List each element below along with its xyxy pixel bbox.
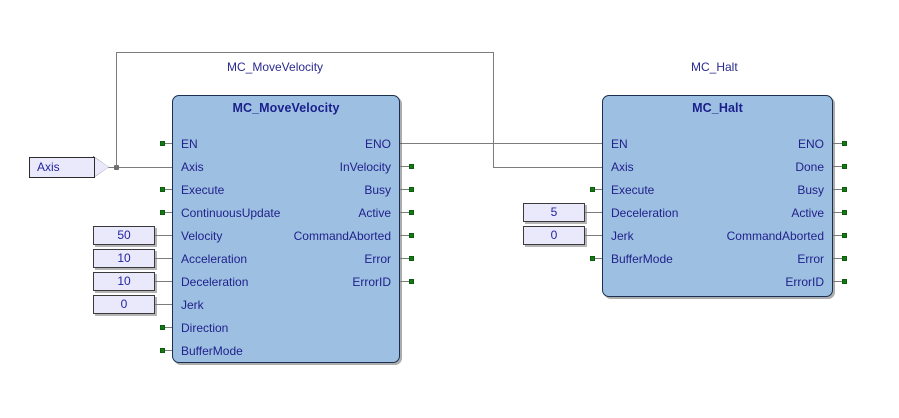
connector-dot-mv-continuousupdate[interactable] — [160, 210, 165, 215]
pin-in-execute[interactable]: Execute — [181, 184, 224, 196]
wire-eno-to-en — [400, 143, 603, 144]
wire-axis-branch-vertical — [116, 52, 117, 167]
literal-jerk[interactable]: 0 — [93, 295, 155, 314]
connector-dot-halt-execute[interactable] — [590, 187, 595, 192]
stub-halt-error — [833, 258, 842, 259]
connector-dot-halt-done[interactable] — [842, 164, 847, 169]
pin-out-halt-eno[interactable]: ENO — [798, 138, 824, 150]
pin-in-halt-jerk[interactable]: Jerk — [611, 230, 634, 242]
stub-halt-errorid — [833, 281, 842, 282]
pin-in-deceleration[interactable]: Deceleration — [181, 276, 248, 288]
wire-axis-top-horizontal — [116, 52, 494, 53]
connector-dot-mv-commandaborted[interactable] — [409, 233, 414, 238]
block-instance-label-halt: MC_Halt — [691, 60, 738, 74]
connector-dot-mv-execute[interactable] — [160, 187, 165, 192]
connector-dot-halt-active[interactable] — [842, 210, 847, 215]
stub-mv-errorid — [400, 281, 409, 282]
connector-dot-halt-error[interactable] — [842, 256, 847, 261]
stub-halt-active — [833, 212, 842, 213]
stub-mv-error — [400, 258, 409, 259]
pin-in-halt-buffermode[interactable]: BufferMode — [611, 253, 673, 265]
stub-halt-commandaborted — [833, 235, 842, 236]
stub-mv-active — [400, 212, 409, 213]
function-block-movevelocity[interactable]: MC_MoveVelocity EN Axis Execute Continuo… — [172, 95, 400, 363]
pin-in-halt-en[interactable]: EN — [611, 138, 628, 150]
connector-dot-halt-busy[interactable] — [842, 187, 847, 192]
pin-out-halt-commandaborted[interactable]: CommandAborted — [727, 230, 824, 242]
literal-acceleration[interactable]: 10 — [93, 249, 155, 268]
connector-dot-halt-eno[interactable] — [842, 141, 847, 146]
stub-halt-done — [833, 166, 842, 167]
pin-in-acceleration[interactable]: Acceleration — [181, 253, 247, 265]
pin-out-error[interactable]: Error — [364, 253, 391, 265]
wire-literal-halt-deceleration — [585, 212, 603, 213]
connector-dot-halt-commandaborted[interactable] — [842, 233, 847, 238]
literal-halt-jerk[interactable]: 0 — [523, 226, 585, 245]
wire-literal-velocity — [155, 235, 173, 236]
pin-in-velocity[interactable]: Velocity — [181, 230, 222, 242]
variable-tag-axis[interactable]: Axis — [29, 157, 95, 178]
connector-dot-mv-active[interactable] — [409, 210, 414, 215]
wire-axis-down-to-halt — [493, 52, 494, 168]
block-instance-label-movevelocity: MC_MoveVelocity — [227, 60, 323, 74]
connector-dot-mv-invelocity[interactable] — [409, 164, 414, 169]
wire-literal-jerk — [155, 304, 173, 305]
stub-halt-eno — [833, 143, 842, 144]
pin-in-halt-execute[interactable]: Execute — [611, 184, 654, 196]
stub-halt-busy — [833, 189, 842, 190]
function-block-halt[interactable]: MC_Halt EN Axis Execute Deceleration Jer… — [602, 95, 833, 297]
pin-out-eno[interactable]: ENO — [365, 138, 391, 150]
variable-tag-axis-label: Axis — [29, 157, 95, 178]
block-title-halt: MC_Halt — [603, 96, 832, 115]
literal-velocity[interactable]: 50 — [93, 226, 155, 245]
block-title-movevelocity: MC_MoveVelocity — [173, 96, 399, 115]
fbd-canvas: Axis 50 10 10 0 5 0 MC_MoveVelocity MC_M… — [0, 0, 899, 418]
pin-out-commandaborted[interactable]: CommandAborted — [294, 230, 391, 242]
pin-out-halt-active[interactable]: Active — [791, 207, 824, 219]
connector-dot-halt-buffermode[interactable] — [590, 256, 595, 261]
pin-out-errorid[interactable]: ErrorID — [352, 276, 391, 288]
wire-literal-deceleration — [155, 281, 173, 282]
pin-out-invelocity[interactable]: InVelocity — [340, 161, 391, 173]
pin-in-axis[interactable]: Axis — [181, 161, 204, 173]
literal-halt-deceleration[interactable]: 5 — [523, 203, 585, 222]
stub-mv-busy — [400, 189, 409, 190]
pin-out-busy[interactable]: Busy — [364, 184, 391, 196]
stub-mv-invelocity — [400, 166, 409, 167]
connector-dot-halt-errorid[interactable] — [842, 279, 847, 284]
wire-literal-halt-jerk — [585, 235, 603, 236]
connector-dot-mv-buffermode[interactable] — [160, 348, 165, 353]
connector-dot-mv-en[interactable] — [160, 141, 165, 146]
pin-in-continuousupdate[interactable]: ContinuousUpdate — [181, 207, 280, 219]
connector-dot-mv-direction[interactable] — [160, 325, 165, 330]
stub-mv-commandaborted — [400, 235, 409, 236]
pin-out-halt-errorid[interactable]: ErrorID — [785, 276, 824, 288]
pin-in-direction[interactable]: Direction — [181, 322, 228, 334]
pin-in-en[interactable]: EN — [181, 138, 198, 150]
pin-in-jerk[interactable]: Jerk — [181, 299, 204, 311]
wire-axis-into-halt — [493, 167, 603, 168]
wire-literal-acceleration — [155, 258, 173, 259]
pin-out-halt-error[interactable]: Error — [797, 253, 824, 265]
literal-deceleration[interactable]: 10 — [93, 272, 155, 291]
pin-out-active[interactable]: Active — [358, 207, 391, 219]
connector-dot-mv-error[interactable] — [409, 256, 414, 261]
connector-dot-mv-busy[interactable] — [409, 187, 414, 192]
pin-in-halt-axis[interactable]: Axis — [611, 161, 634, 173]
pin-out-halt-done[interactable]: Done — [795, 161, 824, 173]
pin-in-halt-deceleration[interactable]: Deceleration — [611, 207, 678, 219]
pin-in-buffermode[interactable]: BufferMode — [181, 345, 243, 357]
connector-dot-mv-errorid[interactable] — [409, 279, 414, 284]
pin-out-halt-busy[interactable]: Busy — [797, 184, 824, 196]
